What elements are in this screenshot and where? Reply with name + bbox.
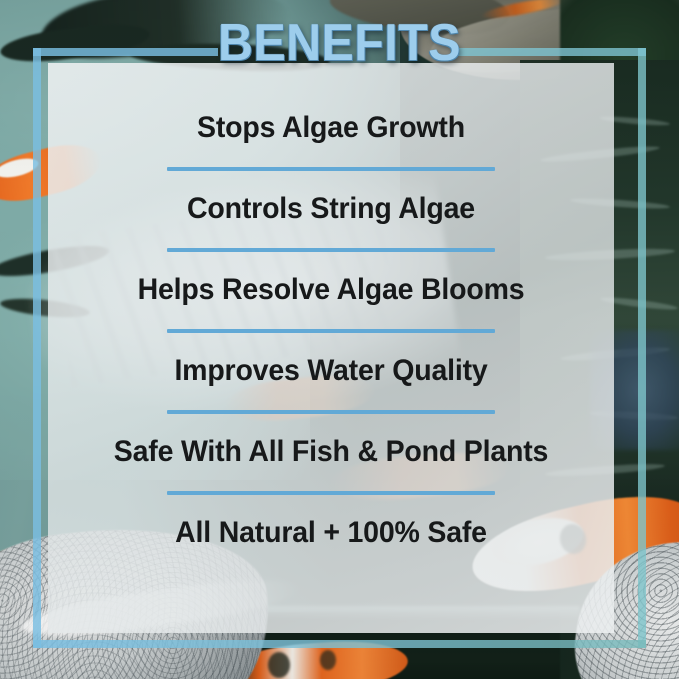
benefit-divider <box>167 248 495 252</box>
benefit-label: All Natural + 100% Safe <box>62 516 600 550</box>
benefit-divider <box>167 410 495 414</box>
benefit-divider <box>167 491 495 495</box>
benefit-item: Improves Water Quality <box>48 354 614 435</box>
page-title: BENEFITS <box>24 17 655 69</box>
benefit-item: All Natural + 100% Safe <box>48 516 614 550</box>
benefits-panel: Stops Algae Growth Controls String Algae… <box>48 63 614 633</box>
benefit-label: Stops Algae Growth <box>62 111 600 145</box>
benefit-item: Controls String Algae <box>48 192 614 273</box>
benefit-label: Safe With All Fish & Pond Plants <box>62 435 600 469</box>
benefit-divider <box>167 329 495 333</box>
benefit-item: Safe With All Fish & Pond Plants <box>48 435 614 516</box>
benefit-label: Controls String Algae <box>62 192 600 226</box>
benefit-label: Helps Resolve Algae Blooms <box>62 273 600 307</box>
benefit-label: Improves Water Quality <box>62 354 600 388</box>
benefit-item: Stops Algae Growth <box>48 111 614 192</box>
benefit-item: Helps Resolve Algae Blooms <box>48 273 614 354</box>
benefit-divider <box>167 167 495 171</box>
